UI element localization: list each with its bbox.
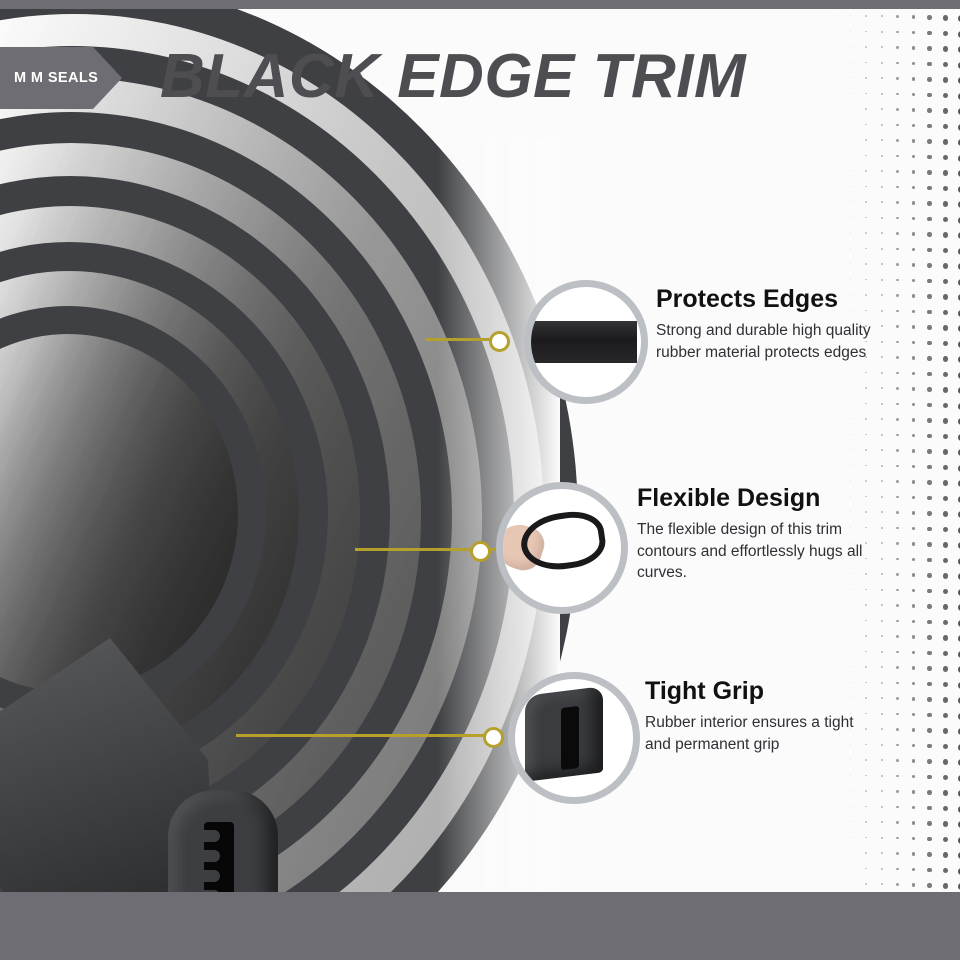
feature-title: Protects Edges [656,284,871,314]
feature-title: Flexible Design [637,483,863,513]
bottom-accent-bar [0,892,960,960]
top-accent-bar [0,0,960,9]
brand-logo-label: M M SEALS [14,70,98,86]
feature-description: Rubber interior ensures a tight and perm… [645,712,860,755]
product-infographic: M M SEALS BLACK EDGE TRIM [0,0,960,960]
leader-marker-1 [489,331,510,352]
brand-logo-badge: M M SEALS [0,47,122,109]
feature-description: The flexible design of this trim contour… [637,519,863,584]
leader-marker-3 [483,727,504,748]
leader-line-3 [236,734,494,737]
feature-icon-circle-2 [496,482,628,614]
trim-bar-icon [529,321,637,363]
feature-icon-circle-3 [508,672,640,804]
feature-description: Strong and durable high quality rubber m… [656,320,871,363]
photo-fade-mask [0,140,560,892]
feature-icon-circle-1 [524,280,648,404]
page-title: BLACK EDGE TRIM [160,41,746,113]
leader-line-1 [425,338,493,341]
leader-marker-2 [470,541,491,562]
product-photo [0,140,560,892]
u-channel-slot [561,706,579,770]
header: M M SEALS BLACK EDGE TRIM [0,9,960,143]
feature-title: Tight Grip [645,676,860,706]
